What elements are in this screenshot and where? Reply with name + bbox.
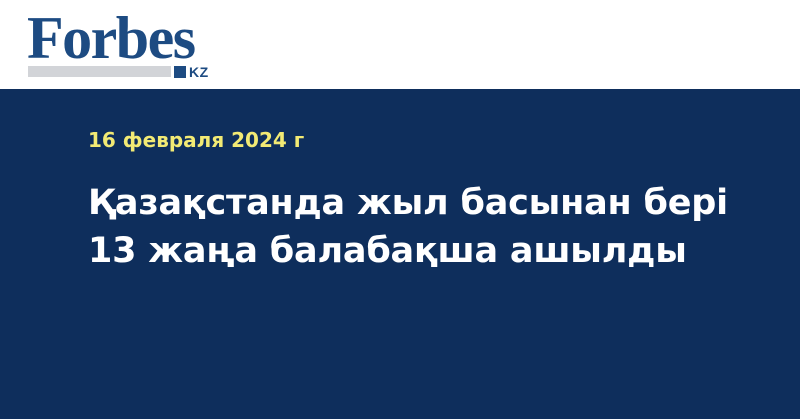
article-headline: Қазақстанда жыл басынан бері 13 жаңа бал… — [88, 179, 728, 275]
site-header: Forbes KZ — [0, 0, 800, 89]
publication-date: 16 февраля 2024 г — [88, 128, 304, 152]
article-card: Forbes KZ 16 февраля 2024 г Қазақстанда … — [0, 0, 800, 419]
logo-kz-label: KZ — [189, 65, 209, 79]
logo-kz-block: KZ — [174, 65, 209, 79]
forbes-kz-logo[interactable]: Forbes KZ — [27, 8, 237, 80]
navy-square-icon — [174, 66, 186, 78]
article-body: 16 февраля 2024 г Қазақстанда жыл басына… — [0, 89, 800, 419]
logo-wordmark: Forbes — [27, 8, 195, 68]
logo-underline-bar — [28, 66, 171, 77]
